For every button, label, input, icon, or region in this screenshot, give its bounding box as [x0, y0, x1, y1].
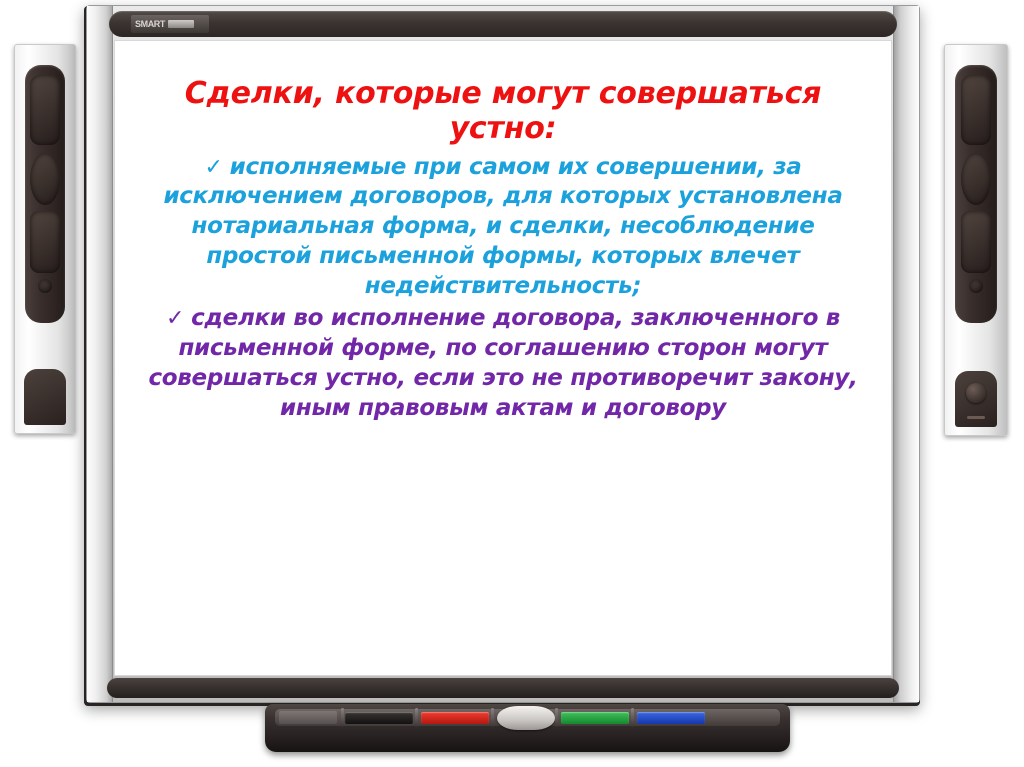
bullet-item-1-text: исполняемые при самом их совершении, за … [163, 154, 842, 300]
frame-top-rail: SMART [109, 11, 897, 37]
tray-slot-empty[interactable] [279, 711, 337, 724]
whiteboard-surface[interactable]: Сделки, которые могут совершаться устно:… [114, 40, 892, 676]
bullet-item-2-text: сделки во исполнение договора, заключенн… [148, 305, 857, 421]
eraser[interactable] [497, 706, 555, 730]
smart-logo-bar-icon [168, 20, 194, 28]
pen-red[interactable] [421, 712, 489, 724]
tray-divider [341, 708, 344, 727]
right-speaker-base [955, 371, 997, 427]
tray-divider [491, 708, 494, 727]
bullet-item-1: ✓исполняемые при самом их совершении, за… [145, 153, 861, 302]
slide-photo-scene: SMART Сделки, которые могут совершаться … [0, 0, 1024, 767]
speaker-cone-lower [961, 211, 991, 273]
check-icon: ✓ [204, 155, 222, 180]
power-led-icon [967, 416, 985, 419]
slide-title: Сделки, которые могут совершаться устно: [145, 77, 861, 147]
speaker-port-icon [38, 279, 52, 293]
right-speaker [944, 44, 1008, 436]
frame-left-rail [87, 6, 113, 702]
check-icon: ✓ [166, 306, 184, 331]
tray-divider [415, 708, 418, 727]
whiteboard-frame: SMART Сделки, которые могут совершаться … [86, 5, 920, 703]
volume-knob[interactable] [966, 383, 986, 403]
smart-brand-label: SMART [135, 19, 165, 29]
speaker-cone-mid [30, 153, 60, 205]
pen-black[interactable] [345, 712, 413, 724]
presentation-slide: Сделки, которые могут совершаться устно:… [115, 41, 891, 675]
tray-divider [555, 708, 558, 727]
bullet-item-2: ✓сделки во исполнение договора, заключен… [145, 304, 861, 424]
speaker-cone-top [961, 75, 991, 145]
smart-brand-logo: SMART [131, 15, 209, 33]
left-speaker-grille [25, 65, 65, 323]
right-speaker-grille [955, 65, 997, 323]
pen-green[interactable] [561, 712, 629, 724]
slide-bullet-list: ✓исполняемые при самом их совершении, за… [145, 153, 861, 424]
speaker-cone-mid [961, 153, 991, 205]
left-speaker-base [24, 369, 66, 425]
left-speaker [14, 44, 76, 434]
pen-blue[interactable] [637, 712, 705, 724]
speaker-port-icon [969, 279, 983, 293]
frame-right-rail [893, 6, 919, 702]
speaker-cone-top [30, 75, 60, 145]
tray-divider [631, 708, 634, 727]
pen-tray[interactable] [265, 704, 790, 752]
speaker-cone-lower [30, 211, 60, 273]
frame-bottom-rail [107, 678, 899, 698]
